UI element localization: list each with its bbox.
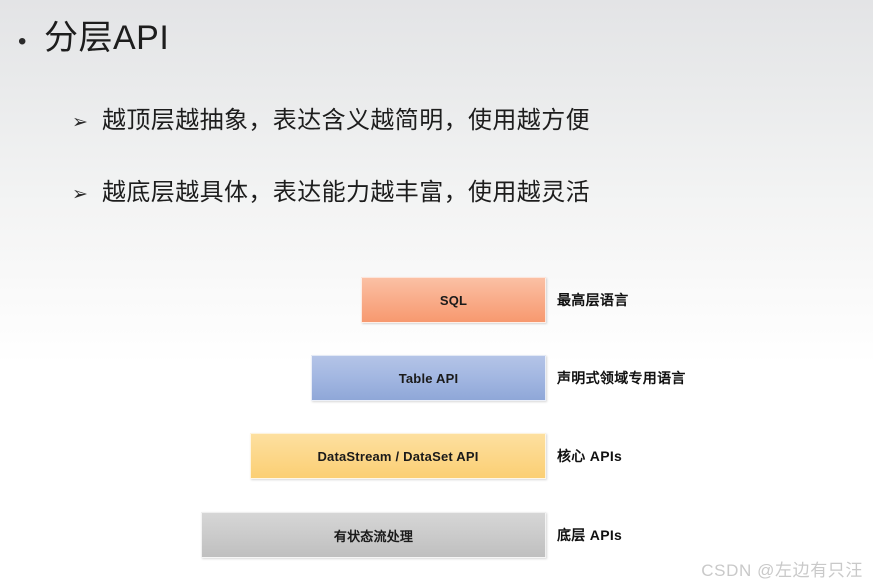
layer-bar-table-api-label: Table API bbox=[399, 371, 459, 386]
layer-bar-datastream-dataset-api-label: DataStream / DataSet API bbox=[317, 449, 478, 464]
layered-api-diagram: SQL 最高层语言 Table API 声明式领域专用语言 DataStream… bbox=[0, 0, 873, 587]
layer-annotation-low-level-apis: 底层 APIs bbox=[557, 512, 622, 558]
layer-bar-stateful-stream-processing-label: 有状态流处理 bbox=[334, 526, 413, 545]
layer-bar-table-api: Table API bbox=[311, 355, 546, 401]
layer-annotation-core-apis: 核心 APIs bbox=[557, 433, 622, 479]
watermark: CSDN @左边有只汪 bbox=[701, 556, 863, 581]
slide-canvas: • 分层API ➢ 越顶层越抽象，表达含义越简明，使用越方便 ➢ 越底层越具体，… bbox=[0, 0, 873, 587]
layer-bar-sql: SQL bbox=[361, 277, 546, 323]
layer-bar-datastream-dataset-api: DataStream / DataSet API bbox=[250, 433, 546, 479]
layer-bar-sql-label: SQL bbox=[440, 293, 467, 308]
layer-annotation-table-api: 声明式领域专用语言 bbox=[557, 355, 686, 401]
layer-annotation-sql: 最高层语言 bbox=[557, 277, 629, 323]
layer-bar-stateful-stream-processing: 有状态流处理 bbox=[201, 512, 546, 558]
